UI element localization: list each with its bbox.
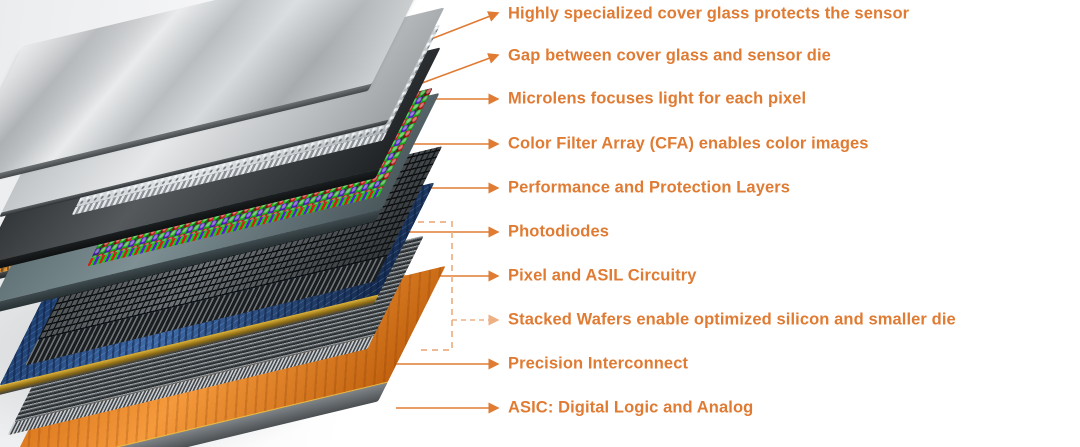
callout-asic[interactable]: ASIC: Digital Logic and Analog [508, 399, 753, 418]
callout-precision-interconnect[interactable]: Precision Interconnect [508, 355, 688, 374]
callout-photodiodes[interactable]: Photodiodes [508, 223, 609, 242]
callout-cover-glass[interactable]: Highly specialized cover glass protects … [508, 5, 909, 24]
callout-color-filter-array[interactable]: Color Filter Array (CFA) enables color i… [508, 135, 869, 154]
callout-performance-layers[interactable]: Performance and Protection Layers [508, 179, 790, 198]
callout-gap[interactable]: Gap between cover glass and sensor die [508, 47, 831, 66]
callout-stacked-wafers[interactable]: Stacked Wafers enable optimized silicon … [508, 311, 956, 330]
sensor-stack-illustration [0, 0, 500, 447]
callout-microlens[interactable]: Microlens focuses light for each pixel [508, 90, 806, 109]
diagram-canvas: Highly specialized cover glass protects … [0, 0, 1080, 447]
callout-pixel-asil[interactable]: Pixel and ASIL Circuitry [508, 267, 697, 286]
